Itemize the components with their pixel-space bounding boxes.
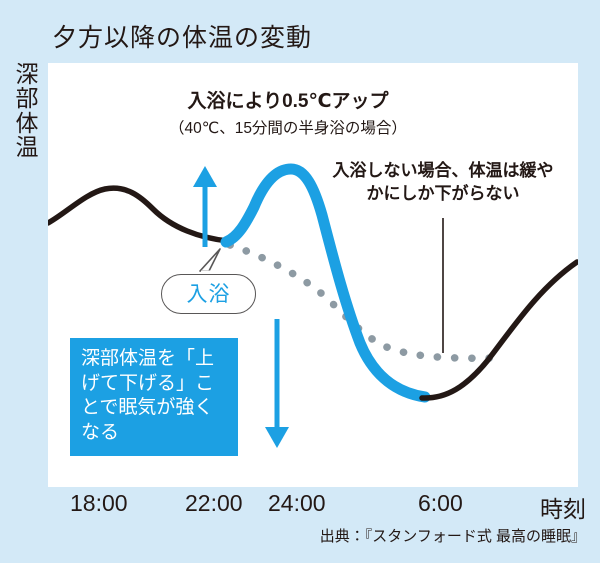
no-bath-note: 入浴しない場合、体温は緩やかにしか下がらない bbox=[328, 159, 558, 205]
temperature-drop-arrow bbox=[265, 319, 289, 448]
baseline-curve-evening bbox=[48, 188, 228, 241]
source-citation: 出典：『スタンフォード式 最高の睡眠』 bbox=[320, 525, 586, 546]
infographic-figure: 夕方以降の体温の変動 深部体温 bbox=[0, 0, 600, 563]
bath-label-text: 入浴 bbox=[187, 284, 231, 305]
bath-effect-main-text: 入浴により0.5℃アップ bbox=[143, 86, 433, 113]
x-tick-2400: 24:00 bbox=[268, 490, 326, 517]
bath-effect-sub-text: （40℃、15分間の半身浴の場合） bbox=[143, 116, 433, 138]
bath-label-bubble: 入浴 bbox=[161, 274, 256, 314]
x-axis-title: 時刻 bbox=[540, 490, 586, 524]
x-tick-2200: 22:00 bbox=[185, 490, 243, 517]
x-tick-0600: 6:00 bbox=[418, 490, 463, 517]
baseline-curve-morning bbox=[422, 262, 577, 398]
page-title: 夕方以降の体温の変動 bbox=[52, 18, 312, 54]
chart-plot-area: 入浴により0.5℃アップ （40℃、15分間の半身浴の場合） 入浴しない場合、体… bbox=[48, 63, 578, 487]
bath-bubble-pointer bbox=[200, 249, 220, 271]
y-axis-label: 深部体温 bbox=[10, 62, 44, 160]
sleep-callout-box: 深部体温を「上げて下げる」ことで眠気が強くなる bbox=[70, 338, 238, 456]
x-tick-1800: 18:00 bbox=[70, 490, 128, 517]
bath-effect-note: 入浴により0.5℃アップ （40℃、15分間の半身浴の場合） bbox=[143, 86, 433, 138]
